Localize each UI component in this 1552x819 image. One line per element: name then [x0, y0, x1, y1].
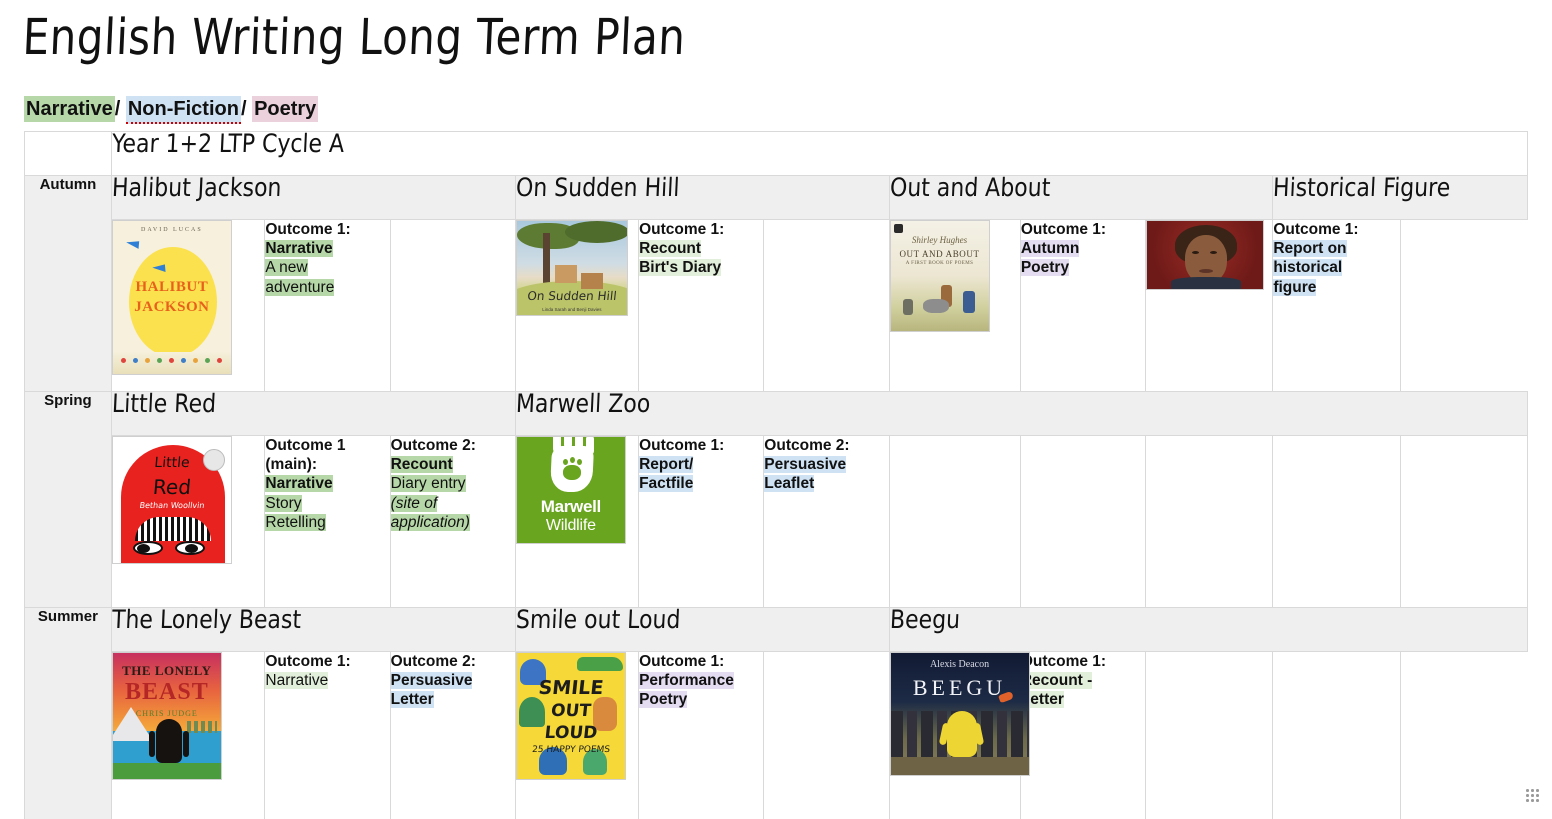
spring-cell-marwell-logo: Marwell Wildlife — [515, 436, 638, 608]
autumn-title-row: Autumn Halibut Jackson On Sudden Hill Ou… — [25, 176, 1528, 220]
outcome-line: Outcome 1: — [1273, 221, 1358, 238]
spring-cell-outcome-2-recount: Outcome 2: Recount Diary entry (site of … — [390, 436, 515, 608]
outcome-text-block: Outcome 1: Performance Poetry — [639, 652, 763, 710]
beast-body — [156, 719, 182, 763]
outabout-author: Shirley Hughes — [891, 235, 989, 245]
marwell-paw-icon — [563, 465, 581, 480]
outabout-figure — [963, 291, 975, 313]
outcome-line: historical — [1273, 259, 1342, 276]
autumn-cell-sudden-cover: On Sudden Hill Linda Sarah and Benji Dav… — [515, 220, 638, 392]
publisher-logo-icon — [894, 224, 903, 233]
halibut-jackson-cover-image: DAVID LUCAS HALIBUT JACKSON — [112, 220, 232, 375]
outcome-line: Report on — [1273, 240, 1346, 257]
legend-non-fiction: Non-Fiction — [126, 96, 241, 124]
marwell-wildlife-logo-image: Marwell Wildlife — [516, 436, 626, 544]
halibut-title-line-1: HALIBUT — [113, 279, 231, 296]
outcome-text-block: Outcome 1: Narrative A new adventure — [265, 220, 389, 297]
littlered-title-line-1: Little — [112, 455, 231, 471]
littlered-title-line-2: Red — [112, 475, 232, 499]
spring-unit-2-title-cell: Marwell Zoo — [515, 392, 1527, 436]
summer-cell-empty — [1146, 652, 1273, 819]
beegu-cover-image: Alexis Deacon BEEGU — [890, 652, 1030, 776]
outcome-line: Narrative — [265, 475, 332, 492]
outcome-line: Outcome 1: — [639, 437, 724, 454]
summer-title-row: Summer The Lonely Beast Smile out Loud B… — [25, 608, 1528, 652]
outcome-line: application) — [391, 514, 470, 531]
outcome-line: Outcome 2: — [764, 437, 849, 454]
outcome-line: adventure — [265, 279, 334, 296]
outcome-text-block: Outcome 1 (main): Narrative Story Retell… — [265, 436, 389, 532]
beast-land — [113, 763, 221, 779]
spring-cell-empty — [1020, 436, 1145, 608]
spring-unit-1-title-cell: Little Red — [111, 392, 515, 436]
outabout-figure — [903, 299, 913, 315]
summer-cell-empty — [1273, 652, 1400, 819]
on-sudden-hill-cover-image: On Sudden Hill Linda Sarah and Benji Dav… — [516, 220, 628, 316]
legend-poetry: Poetry — [252, 96, 318, 122]
summer-cell-smile-cover: SMILE OUT LOUD 25 HAPPY POEMS — [515, 652, 638, 819]
autumn-cell-outabout-cover: Shirley Hughes OUT AND ABOUT A FIRST BOO… — [889, 220, 1020, 392]
summer-cell-outcome-2-letter: Outcome 2: Persuasive Letter — [390, 652, 515, 819]
beast-author: CHRIS JUDGE — [113, 709, 221, 718]
spring-cell-outcome-2-leaflet: Outcome 2: Persuasive Leaflet — [764, 436, 889, 608]
outcome-line: Outcome 2: — [391, 653, 476, 670]
cycle-header-cell: Year 1+2 LTP Cycle A — [111, 132, 1527, 176]
outcome-line: Narrative — [265, 240, 332, 257]
spring-unit-2-title: Marwell Zoo — [515, 390, 651, 419]
outcome-line: Persuasive — [764, 456, 846, 473]
outabout-dog — [923, 299, 949, 313]
summer-content-row: THE LONELY BEAST CHRIS JUDGE Outcome 1: … — [25, 652, 1528, 819]
portrait-mouth — [1199, 269, 1213, 273]
summer-unit-2-title-cell: Smile out Loud — [515, 608, 889, 652]
legend: Narrative/ Non-Fiction/ Poetry — [24, 98, 318, 121]
littlered-pupil — [137, 544, 150, 553]
beegu-ground — [891, 757, 1029, 775]
outcome-text-block: Outcome 1: Recount - Letter — [1021, 652, 1145, 710]
outcome-text-block: Outcome 1: Recount Birt's Diary — [639, 220, 763, 278]
autumn-cell-empty — [764, 220, 889, 392]
resize-grip-icon[interactable] — [1526, 789, 1542, 807]
littlered-author: Bethan Woollvin — [112, 501, 231, 510]
summer-unit-1-title: The Lonely Beast — [111, 606, 301, 635]
smile-title-line-2: OUT — [516, 701, 626, 721]
smile-title-line-1: SMILE — [516, 677, 626, 699]
autumn-cell-portrait — [1146, 220, 1273, 392]
halibut-title-line-2: JACKSON — [113, 299, 231, 316]
littlered-pupil — [185, 544, 198, 553]
spring-cell-empty — [1273, 436, 1400, 608]
autumn-unit-4-title-cell: Historical Figure — [1273, 176, 1528, 220]
spring-title-row: Spring Little Red Marwell Zoo — [25, 392, 1528, 436]
outcome-text-block: Outcome 1: Report on historical figure — [1273, 220, 1399, 297]
outcome-line: Outcome 1: — [265, 653, 350, 670]
season-label-spring: Spring — [25, 392, 112, 608]
outcome-text-block: Outcome 1: Report/ Factfile — [639, 436, 763, 494]
smile-title-line-3: LOUD — [516, 723, 626, 743]
spring-cell-empty — [889, 436, 1020, 608]
season-label-autumn: Autumn — [25, 176, 112, 392]
outcome-line: (site of — [391, 495, 438, 512]
smile-subtitle: 25 HAPPY POEMS — [516, 745, 625, 755]
autumn-unit-3-title: Out and About — [889, 174, 1051, 203]
outcome-line: Autumn — [1021, 240, 1080, 257]
beegu-body — [947, 711, 977, 757]
outcome-line: Outcome 1: — [639, 653, 724, 670]
summer-unit-3-title-cell: Beegu — [889, 608, 1527, 652]
halibut-flowers — [117, 358, 229, 368]
sudden-title: On Sudden Hill — [516, 289, 627, 303]
beast-arm — [149, 731, 155, 757]
halibut-bird-icon — [126, 236, 142, 249]
autumn-unit-2-title-cell: On Sudden Hill — [515, 176, 889, 220]
portrait-eye — [1192, 251, 1199, 254]
outcome-line: Outcome 1: — [265, 221, 350, 238]
smile-crocodile — [577, 657, 623, 671]
halibut-author: DAVID LUCAS — [113, 227, 231, 233]
cycle-header-label: Year 1+2 LTP Cycle A — [111, 130, 344, 159]
portrait-eye — [1210, 251, 1217, 254]
autumn-unit-1-title: Halibut Jackson — [111, 174, 282, 203]
outcome-line: Diary entry — [391, 475, 466, 492]
beegu-author: Alexis Deacon — [891, 659, 1029, 670]
summer-unit-3-title: Beegu — [889, 606, 960, 635]
autumn-cell-outcome-1-narrative: Outcome 1: Narrative A new adventure — [265, 220, 390, 392]
spring-cell-outcome-1-narrative: Outcome 1 (main): Narrative Story Retell… — [265, 436, 390, 608]
autumn-content-row: DAVID LUCAS HALIBUT JACKSON — [25, 220, 1528, 392]
outabout-subtitle: A FIRST BOOK OF POEMS — [891, 261, 989, 266]
summer-cell-empty — [764, 652, 889, 819]
autumn-unit-3-title-cell: Out and About — [889, 176, 1273, 220]
long-term-plan-table: Year 1+2 LTP Cycle A Autumn Halibut Jack… — [24, 131, 1528, 819]
autumn-cell-outcome-1-report: Outcome 1: Report on historical figure — [1273, 220, 1400, 392]
smile-out-loud-cover-image: SMILE OUT LOUD 25 HAPPY POEMS — [516, 652, 626, 780]
outcome-line: Performance — [639, 672, 734, 689]
spring-cell-empty — [1400, 436, 1527, 608]
outcome-line: figure — [1273, 279, 1316, 296]
lonely-beast-cover-image: THE LONELY BEAST CHRIS JUDGE — [112, 652, 222, 780]
portrait-face — [1185, 235, 1227, 283]
outcome-line: Poetry — [639, 691, 687, 708]
cycle-header-row: Year 1+2 LTP Cycle A — [25, 132, 1528, 176]
historical-figure-portrait-image — [1146, 220, 1264, 290]
out-and-about-cover-image: Shirley Hughes OUT AND ABOUT A FIRST BOO… — [890, 220, 990, 332]
outcome-line: Report/ — [639, 456, 693, 473]
marwell-paw-dot — [563, 459, 568, 465]
outcome-line: (main): — [265, 456, 317, 473]
summer-cell-outcome-1-narrative: Outcome 1: Narrative — [265, 652, 390, 819]
outcome-line: Outcome 1: — [639, 221, 724, 238]
spring-cell-empty — [1146, 436, 1273, 608]
document-page: English Writing Long Term Plan Narrative… — [0, 0, 1552, 819]
autumn-unit-1-title-cell: Halibut Jackson — [111, 176, 515, 220]
outcome-line: Outcome 1 — [265, 437, 345, 454]
legend-separator-1: / — [115, 98, 126, 120]
autumn-cell-empty — [390, 220, 515, 392]
autumn-unit-2-title: On Sudden Hill — [515, 174, 680, 203]
outcome-text-block: Outcome 2: Recount Diary entry (site of … — [391, 436, 515, 532]
autumn-cell-halibut-cover: DAVID LUCAS HALIBUT JACKSON — [111, 220, 265, 392]
outcome-line: Letter — [391, 691, 434, 708]
beast-title-line-2: BEAST — [113, 679, 221, 706]
littlered-fringe — [135, 517, 211, 541]
legend-separator-2: / — [241, 98, 252, 120]
summer-cell-beast-cover: THE LONELY BEAST CHRIS JUDGE — [111, 652, 265, 819]
outcome-text-block: Outcome 1: Narrative — [265, 652, 389, 690]
outcome-line: Poetry — [1021, 259, 1069, 276]
outcome-text-block: Outcome 2: Persuasive Letter — [391, 652, 515, 710]
outcome-line: Leaflet — [764, 475, 814, 492]
summer-cell-outcome-1-recount-letter: Outcome 1: Recount - Letter — [1020, 652, 1145, 819]
autumn-cell-outcome-1-poetry: Outcome 1: Autumn Poetry — [1020, 220, 1145, 392]
outcome-line: Persuasive — [391, 672, 473, 689]
outcome-line: Narrative — [265, 672, 328, 689]
spring-cell-outcome-1-report: Outcome 1: Report/ Factfile — [639, 436, 764, 608]
summer-unit-2-title: Smile out Loud — [515, 606, 681, 635]
summer-cell-beegu-cover: Alexis Deacon BEEGU — [889, 652, 1020, 819]
outcome-line: Story — [265, 495, 301, 512]
marwell-paw-dot — [570, 457, 575, 463]
sudden-cardboard-box — [581, 273, 603, 289]
outcome-line: Birt's Diary — [639, 259, 721, 276]
season-label-summer: Summer — [25, 608, 112, 819]
outcome-line: Outcome 1: — [1021, 221, 1106, 238]
beast-title-line-1: THE LONELY — [113, 663, 221, 679]
portrait-collar — [1171, 277, 1241, 289]
outcome-line: Outcome 1: — [1021, 653, 1106, 670]
sudden-tree-canopy — [565, 221, 628, 243]
outcome-line: Retelling — [265, 514, 325, 531]
spring-cell-littlered-cover: Little Red Bethan Woollvin — [111, 436, 265, 608]
outcome-line: Outcome 2: — [391, 437, 476, 454]
autumn-cell-outcome-1-recount: Outcome 1: Recount Birt's Diary — [639, 220, 764, 392]
marwell-title-line-2: Wildlife — [517, 517, 625, 535]
page-title: English Writing Long Term Plan — [21, 8, 686, 66]
marwell-paw-dot — [577, 459, 582, 465]
beast-city — [187, 721, 217, 733]
little-red-cover-image: Little Red Bethan Woollvin — [112, 436, 232, 564]
outcome-line: A new — [265, 259, 307, 276]
summer-cell-outcome-1-performance-poetry: Outcome 1: Performance Poetry — [639, 652, 764, 819]
legend-narrative: Narrative — [24, 96, 115, 122]
outcome-line: Recount — [391, 456, 453, 473]
summer-unit-1-title-cell: The Lonely Beast — [111, 608, 515, 652]
outcome-line: Recount - — [1021, 672, 1092, 689]
spring-content-row: Little Red Bethan Woollvin Outcome 1 (ma… — [25, 436, 1528, 608]
outabout-title: OUT AND ABOUT — [891, 249, 989, 259]
cycle-header-spacer — [25, 132, 112, 176]
outcome-text-block: Outcome 2: Persuasive Leaflet — [764, 436, 888, 494]
outcome-line: Factfile — [639, 475, 693, 492]
sudden-cardboard-box — [555, 265, 577, 283]
autumn-unit-4-title: Historical Figure — [1273, 174, 1452, 203]
beast-arm — [183, 731, 189, 757]
marwell-title-line-1: Marwell — [517, 497, 625, 517]
sudden-subtitle: Linda Sarah and Benji Davies — [517, 307, 627, 312]
spring-unit-1-title: Little Red — [111, 390, 216, 419]
outcome-text-block: Outcome 1: Autumn Poetry — [1021, 220, 1145, 278]
outcome-line: Recount — [639, 240, 701, 257]
